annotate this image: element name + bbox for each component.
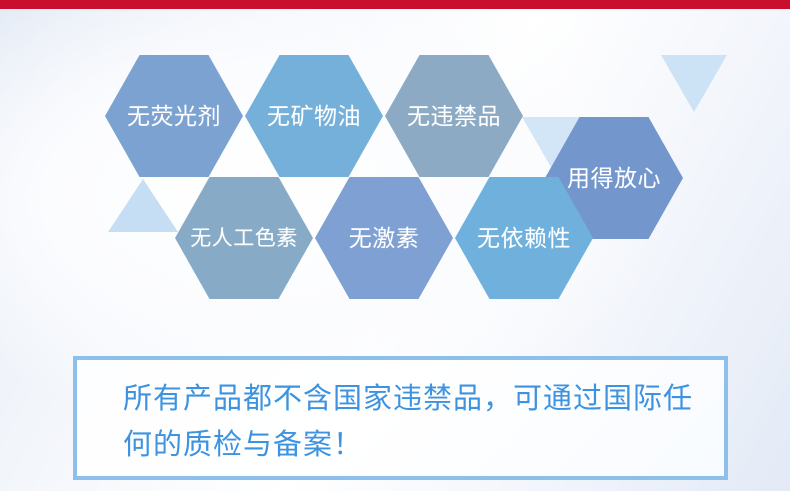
hexagon-label: 无依赖性 bbox=[477, 227, 571, 250]
hexagon-label: 用得放心 bbox=[567, 167, 661, 190]
hexagon-label: 无激素 bbox=[349, 227, 420, 250]
triangle-down-icon bbox=[661, 55, 727, 112]
hexagon-feature: 无荧光剂 bbox=[105, 55, 243, 177]
hexagon-label: 无矿物油 bbox=[267, 105, 361, 128]
statement-box: 所有产品都不含国家违禁品，可通过国际任何的质检与备案！ bbox=[73, 356, 728, 480]
promo-page: 无荧光剂无矿物油无违禁品用得放心无人工色素无激素无依赖性 所有产品都不含国家违禁… bbox=[0, 0, 790, 491]
top-accent-bar bbox=[0, 0, 790, 9]
hexagon-label: 无荧光剂 bbox=[127, 105, 221, 128]
hexagon-label: 无人工色素 bbox=[190, 228, 298, 249]
hexagon-label: 无违禁品 bbox=[407, 105, 501, 128]
statement-text: 所有产品都不含国家违禁品，可通过国际任何的质检与备案！ bbox=[123, 376, 703, 468]
hexagon-feature: 无人工色素 bbox=[175, 177, 313, 299]
hexagon-feature: 无违禁品 bbox=[385, 55, 523, 177]
hexagon-feature: 无激素 bbox=[315, 177, 453, 299]
hexagon-feature: 无矿物油 bbox=[245, 55, 383, 177]
triangle-up-icon bbox=[108, 179, 178, 232]
